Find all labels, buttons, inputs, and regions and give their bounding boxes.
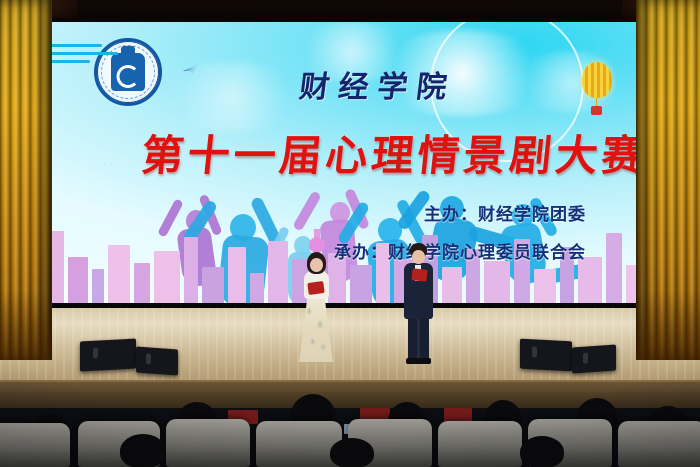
audience-head	[520, 436, 564, 467]
skyline-building	[442, 267, 462, 303]
audience-seat	[166, 419, 250, 467]
female-host	[296, 252, 336, 362]
skyline-building	[578, 257, 602, 303]
balloon-envelope	[582, 62, 612, 98]
audience-seat	[0, 423, 70, 467]
dotted-trail: · · · · · ·	[104, 162, 143, 168]
skyline-building	[68, 257, 88, 303]
skyline-building	[108, 245, 130, 303]
skyline-building	[154, 251, 180, 303]
led-screen: · · · · · · · · · ·	[42, 22, 658, 303]
audience-head	[120, 434, 166, 467]
host-gown	[299, 294, 333, 362]
host-trousers	[408, 317, 429, 361]
skyline-building	[92, 269, 104, 303]
screen-organization-title: 财经学院	[297, 62, 458, 106]
decorative-lines	[42, 44, 118, 68]
audience-seat	[256, 421, 342, 467]
skyline-building	[534, 269, 556, 303]
hot-air-balloon-icon	[582, 62, 612, 100]
screen-host-line: 主办：财经学院团委	[424, 200, 586, 225]
led-screen-bezel: · · · · · · · · · ·	[36, 18, 664, 308]
skyline-building	[184, 237, 198, 303]
skyline-building	[268, 241, 288, 303]
nameplate	[444, 408, 472, 422]
stage-monitor-right-2	[572, 344, 616, 373]
skyline-building	[134, 263, 150, 303]
host-face	[310, 258, 323, 272]
host-shoes	[406, 358, 431, 364]
screen-event-title: 第十一届心理情景剧大赛	[139, 122, 651, 183]
stage-curtain-right	[636, 0, 700, 360]
stage-monitor-left-2	[136, 347, 178, 376]
auditorium-photo: · · · · · · · · · ·	[0, 0, 700, 467]
red-folder-prop	[307, 281, 325, 295]
skyline-building	[202, 267, 224, 303]
skyline-building	[228, 247, 246, 303]
stage-curtain-left	[0, 0, 52, 360]
audience-head	[330, 438, 374, 467]
host-face	[412, 250, 425, 264]
stage-monitor-left-1	[80, 339, 136, 372]
balloon-basket	[591, 106, 602, 115]
skyline-building	[484, 261, 510, 303]
skyline-building	[250, 273, 264, 303]
screen-organizer-line: 承办：财经学院心理委员联合会	[334, 238, 586, 263]
dotted-trail: · · · ·	[98, 174, 123, 180]
red-folder-prop	[411, 268, 427, 282]
skyline-building	[350, 265, 372, 303]
audience-seating	[0, 392, 700, 467]
audience-seat	[618, 421, 700, 467]
audience-seat	[438, 421, 522, 467]
skyline-building	[606, 233, 622, 303]
stage-monitor-right-1	[520, 339, 572, 372]
male-host	[398, 243, 438, 365]
